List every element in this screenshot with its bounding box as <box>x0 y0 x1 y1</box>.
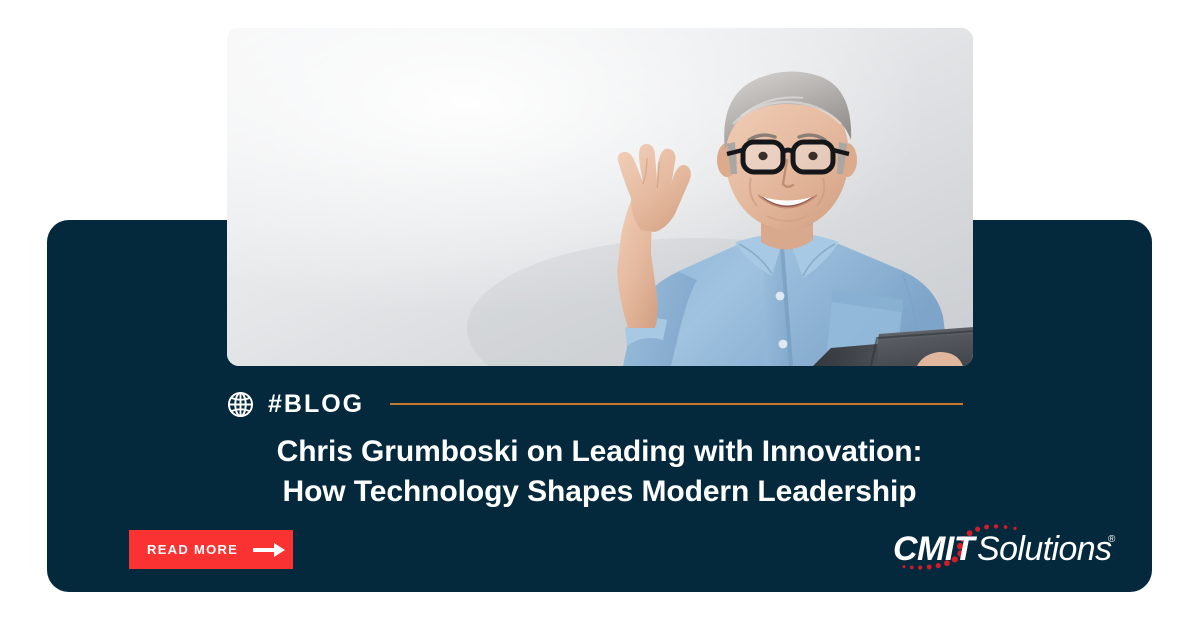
read-more-button[interactable]: READ MORE <box>129 530 293 569</box>
logo-registered-mark: ® <box>1108 534 1116 545</box>
globe-icon <box>227 391 254 418</box>
social-blog-card: #BLOG Chris Grumboski on Leading with In… <box>0 0 1200 627</box>
logo-wordmark-cmit: CMIT <box>893 530 978 568</box>
blog-tag-label: #BLOG <box>268 392 364 417</box>
page-title: Chris Grumboski on Leading with Innovati… <box>47 432 1152 512</box>
blog-tag-row: #BLOG <box>227 383 967 425</box>
arrow-right-icon <box>252 542 286 558</box>
headline-line-2: How Technology Shapes Modern Leadership <box>237 472 962 512</box>
headline-line-1: Chris Grumboski on Leading with Innovati… <box>277 435 923 468</box>
hero-photo-illustration <box>227 28 973 366</box>
cmit-solutions-logo: CMIT Solutions ® <box>893 522 1123 576</box>
tag-divider-rule <box>390 403 963 405</box>
cmit-solutions-logo-mark: CMIT Solutions ® <box>893 522 1123 576</box>
read-more-label: READ MORE <box>147 543 238 556</box>
logo-wordmark-solutions: Solutions <box>977 530 1112 568</box>
hero-photo <box>227 28 973 366</box>
